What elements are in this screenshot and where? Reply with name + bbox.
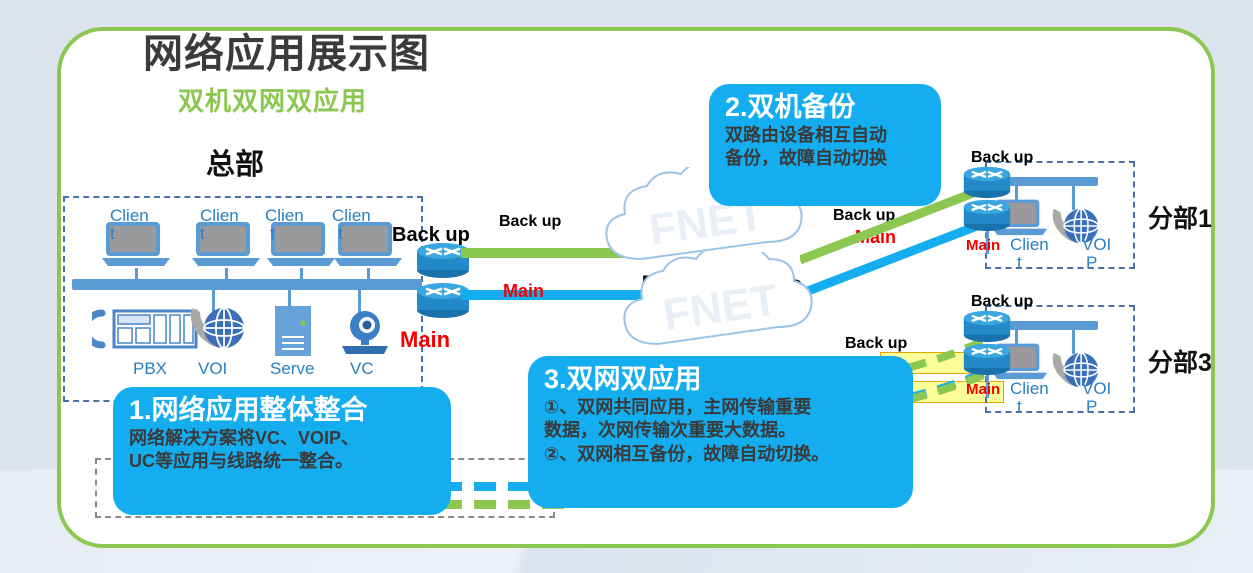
hq-voip-icon [186,300,250,356]
hq-device-label-vc: VC [350,360,374,378]
branch1-voip-label2: P [1086,254,1097,272]
callout-3-body-2: 数据，次网传输次重要大数据。 [544,419,897,442]
branch3-backup-link-label: Back up [845,336,907,353]
hq-client-label-2: Clien [200,207,239,225]
callout-2-body-1: 双路由设备相互自动 [725,124,925,147]
branch3-voip-label2: P [1086,398,1097,416]
page-subtitle: 双机双网双应用 [178,88,367,115]
page-title: 网络应用展示图 [143,33,430,75]
branch1-voip-label: VOI [1082,236,1111,254]
branch3-client-label: Clien [1010,380,1049,398]
callout-3[interactable]: 3.双网双应用 ①、双网共同应用，主网传输重要 数据，次网传输次重要大数据。 ②… [528,356,913,508]
hq-router-backup-icon[interactable] [415,241,471,279]
hq-router-main-label: Main [400,328,450,351]
callout-1-body-2: UC等应用与线路统一整合。 [129,450,435,473]
callout-3-heading: 3.双网双应用 [544,364,897,396]
branch3-voip-label: VOI [1082,380,1111,398]
hq-client-drop-4 [367,268,370,282]
callout-2-body-2: 备份，故障自动切换 [725,147,925,170]
hq-client-label-4b: t [338,225,343,243]
hq-device-label-pbx: PBX [133,360,167,378]
branch3-router-backup-label: Back up [971,294,1033,311]
callout-2[interactable]: 2.双机备份 双路由设备相互自动 备份，故障自动切换 [709,84,941,206]
hq-client-drop-2 [225,268,228,282]
callout-3-body-3: ②、双网相互备份，故障自动切换。 [544,443,897,466]
hq-client-label-2b: t [200,225,205,243]
branch3-client-label2: t [1017,398,1022,416]
hq-client-label-3: Clien [265,207,304,225]
branch3-router-main-label: Main [966,382,1000,398]
hq-client-drop-1 [135,268,138,282]
branch1-router-main-label: Main [966,238,1000,254]
branch1-router-main-icon[interactable] [962,198,1012,232]
hq-router-main-icon[interactable] [415,281,471,319]
hq-client-label-1: Clien [110,207,149,225]
branch3-title: 分部3 [1148,350,1212,376]
hq-main-link-label: Main [503,282,544,301]
branch1-router-backup-label: Back up [971,150,1033,167]
hq-client-icon-3 [265,222,337,270]
branch1-client-label: Clien [1010,236,1049,254]
hq-backup-link-label: Back up [499,214,561,231]
hq-client-label-4: Clien [332,207,371,225]
branch3-router-backup-icon[interactable] [962,309,1012,343]
hq-client-label-1b: t [110,225,115,243]
hq-device-label-voip: VOI [198,360,227,378]
callout-2-heading: 2.双机备份 [725,92,925,124]
branch1-title: 分部1 [1148,206,1212,232]
hq-client-drop-3 [300,268,303,282]
callout-1-body-1: 网络解决方案将VC、VOIP、 [129,427,435,450]
hq-server-icon [272,305,314,357]
branch1-client-label2: t [1017,254,1022,272]
hq-device-label-server: Serve [270,360,314,378]
hq-client-label-3b: t [270,225,275,243]
callout-1[interactable]: 1.网络应用整体整合 网络解决方案将VC、VOIP、 UC等应用与线路统一整合。 [113,387,451,515]
callout-3-body-1: ①、双网共同应用，主网传输重要 [544,396,897,419]
hq-title: 总部 [206,150,264,180]
diagram-canvas: 网络应用展示图 双机双网双应用 总部 Clien t Clien t Clien… [0,0,1253,573]
branch1-router-backup-icon[interactable] [962,165,1012,199]
callout-1-heading: 1.网络应用整体整合 [129,395,435,427]
branch3-router-main-icon[interactable] [962,342,1012,376]
hq-vc-icon [336,308,394,356]
